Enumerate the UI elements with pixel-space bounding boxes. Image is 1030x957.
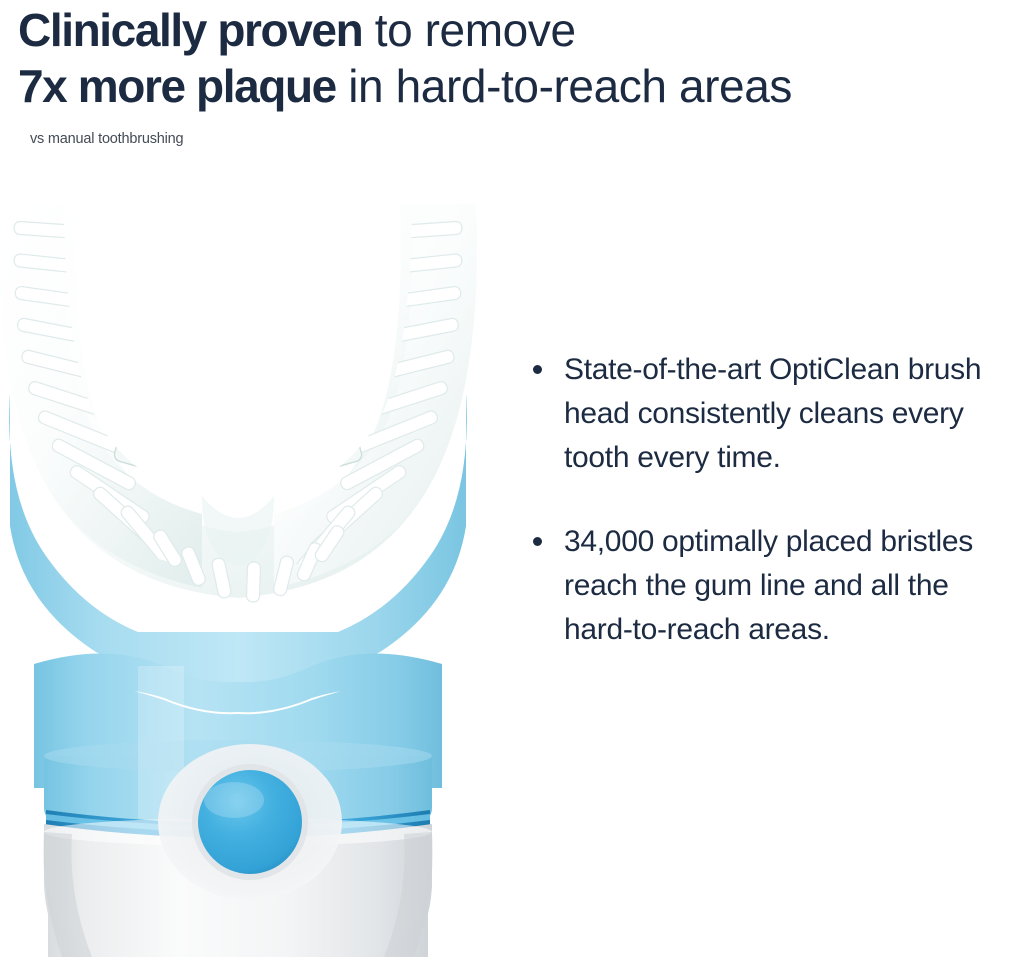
list-item: State-of-the-art OptiClean brush head co… [533, 348, 1023, 480]
bullet-dot-icon [533, 365, 542, 374]
product-feature-panel: Clinically proven to remove 7x more plaq… [0, 0, 1030, 957]
headline-line-2: 7x more plaque in hard-to-reach areas [18, 58, 1028, 114]
headline-regular-1: to remove [362, 4, 575, 56]
brush-head [0, 204, 477, 602]
headline-emphasis-2: 7x more plaque [18, 60, 336, 112]
list-item-label: 34,000 optimally placed bristles reach t… [564, 520, 1023, 652]
headline-block: Clinically proven to remove 7x more plaq… [18, 2, 1028, 114]
bullet-dot-icon [533, 537, 542, 546]
headline-line-1: Clinically proven to remove [18, 2, 1028, 58]
list-item-label: State-of-the-art OptiClean brush head co… [564, 348, 1023, 480]
headline-regular-2: in hard-to-reach areas [336, 60, 792, 112]
list-item: 34,000 optimally placed bristles reach t… [533, 520, 1023, 652]
power-button-gloss [204, 782, 264, 818]
feature-bullet-list: State-of-the-art OptiClean brush head co… [533, 348, 1023, 692]
toothbrush-illustration [0, 196, 488, 957]
headline-emphasis-1: Clinically proven [18, 4, 362, 56]
power-button[interactable] [158, 744, 342, 900]
headline-subtext: vs manual toothbrushing [30, 130, 183, 148]
product-image [0, 196, 488, 957]
